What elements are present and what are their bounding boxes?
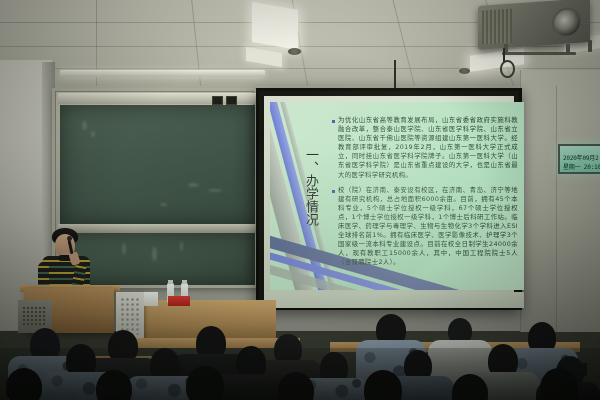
chalk-smudge	[91, 131, 95, 137]
board-rail-clip	[226, 96, 237, 105]
ceiling-light-panel	[246, 47, 282, 67]
audience: ■ ■ ■ ■ ■ ■ ■	[0, 300, 600, 400]
screen-hanger-cable	[394, 60, 396, 88]
projector-lens-icon	[552, 7, 582, 39]
projection-screen-surface: 一、办学情况 为优化山东省高等教育发展布局，山东省委省政府实施科教融合改革，整合…	[264, 96, 514, 302]
ceiling-vent-icon	[459, 68, 470, 74]
lecture-hall-photo: 一、办学情况 为优化山东省高等教育发展布局，山东省委省政府实施科教融合改革，整合…	[0, 0, 600, 400]
wall-seam	[556, 86, 557, 332]
clock-date: 2020年09月2	[563, 153, 599, 162]
bottle-cap	[168, 280, 173, 284]
chalk-smudge	[82, 121, 87, 130]
fluorescent-light	[60, 70, 265, 77]
screen-hanger-cable	[503, 48, 505, 62]
chalk-smudge	[188, 183, 199, 187]
projector-mount	[588, 40, 592, 52]
ceiling-vent-icon	[288, 48, 301, 55]
chalk-smudge	[208, 189, 222, 192]
chalk-smudge	[180, 241, 183, 251]
chalk-smudge	[152, 247, 157, 261]
ceiling-light-panel	[252, 2, 298, 50]
right-wall	[520, 70, 600, 332]
slide-bullet-text: 为优化山东省高等教育发展布局，山东省委省政府实施科教融合改革，整合泰山医学院、山…	[338, 116, 518, 180]
slide-section-title: 一、办学情况	[296, 148, 318, 226]
slide-bullet-text: 校（院）在济南、泰安设有校区，在济南、青岛、济宁等地建有研究机构，总占地面积60…	[338, 186, 518, 268]
projection-screen: 一、办学情况 为优化山东省高等教育发展布局，山东省委省政府实施科教融合改革，整合…	[256, 88, 522, 310]
projector	[478, 0, 590, 50]
slide-bullet-list: 为优化山东省高等教育发展布局，山东省委省政府实施科教融合改革，整合泰山医学院、山…	[332, 116, 518, 274]
board-rail-clip	[212, 96, 223, 105]
projector-vent-icon	[482, 9, 512, 45]
clock-weekday-time: 星期一 20:10:	[563, 162, 600, 171]
led-clock-display: 2020年09月2 星期一 20:10:	[558, 144, 600, 174]
slide-bullet-item: 校（院）在济南、泰安设有校区，在济南、青岛、济宁等地建有研究机构，总占地面积60…	[332, 186, 518, 268]
bottle-cap	[182, 280, 187, 284]
presentation-slide: 一、办学情况 为优化山东省高等教育发展布局，山东省委省政府实施科教融合改革，整合…	[270, 102, 524, 290]
ceiling	[0, 0, 600, 92]
microphone-head-icon	[67, 236, 72, 241]
slide-bullet-item: 为优化山东省高等教育发展布局，山东省委省政府实施科教融合改革，整合泰山医学院、山…	[332, 116, 518, 180]
hook-icon	[500, 60, 515, 78]
square-bullet-icon	[332, 120, 335, 123]
front-row-shadow	[0, 348, 600, 400]
chalk-tray	[58, 224, 257, 233]
chalk-smudge	[160, 203, 167, 206]
projector-mount-bar	[502, 52, 576, 55]
ceiling-tile-seam	[96, 0, 97, 92]
chalkboard-surface-upper	[60, 105, 255, 225]
square-bullet-icon	[332, 190, 335, 193]
chalk-smudge	[122, 243, 126, 255]
